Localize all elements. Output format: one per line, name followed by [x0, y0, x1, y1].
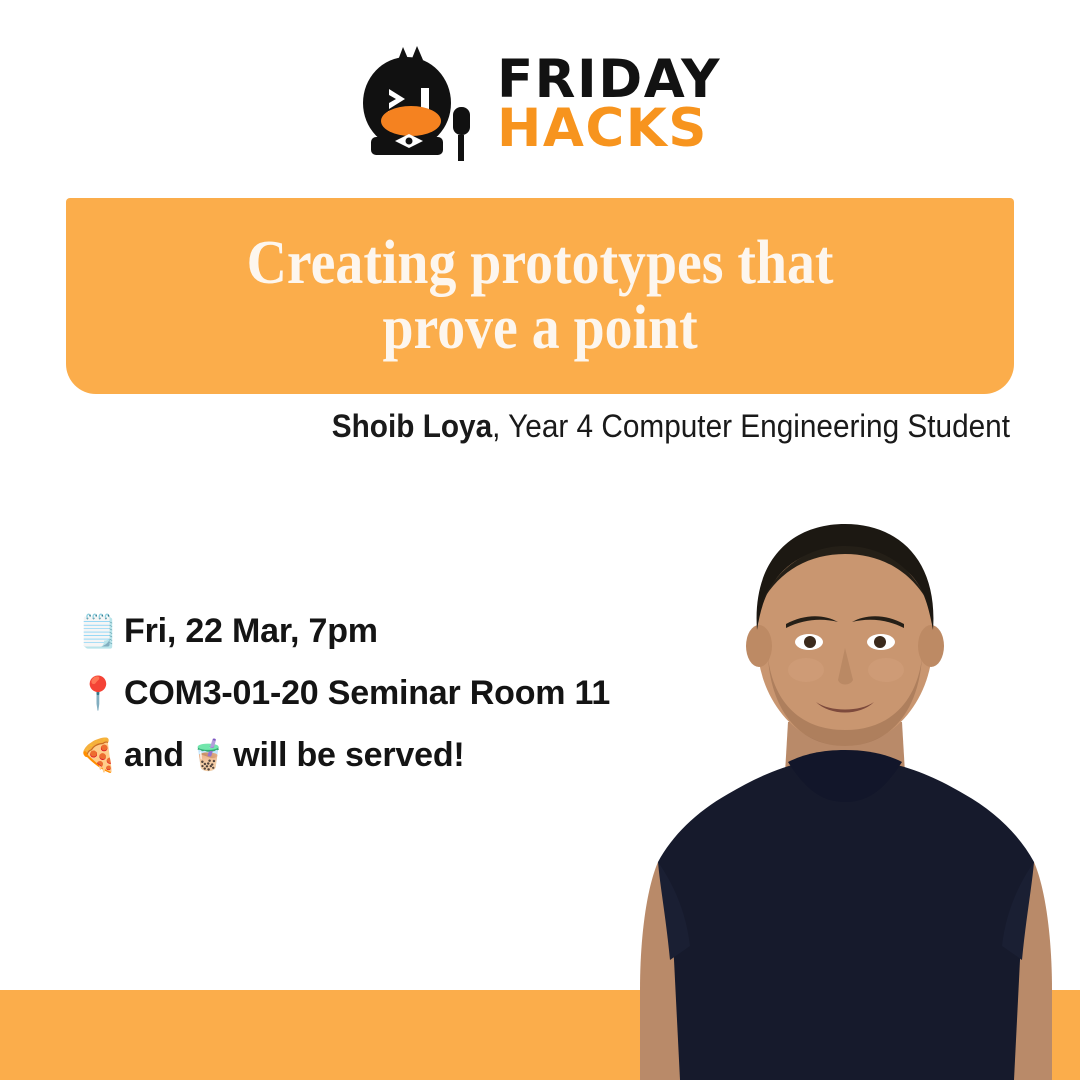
brand-wordmark: FRIDAY HACKS [497, 55, 721, 154]
spiral-notepad-icon: 🗒️ [78, 615, 124, 647]
refreshments-text-after: will be served! [233, 736, 464, 775]
title-banner: Creating prototypes that prove a point [66, 198, 1014, 394]
page-title: Creating prototypes that prove a point [220, 231, 861, 361]
bubble-tea-icon: 🧋 [184, 738, 233, 773]
detail-row-refreshments: 🍕 and 🧋 will be served! [78, 724, 610, 786]
speaker-role: , Year 4 Computer Engineering Student [492, 408, 1010, 444]
event-details-list: 🗒️ Fri, 22 Mar, 7pm 📍 COM3-01-20 Seminar… [78, 600, 610, 786]
refreshments-text-before: and [124, 736, 184, 775]
friday-hacks-duck-logo-icon [359, 45, 481, 163]
event-date-text: Fri, 22 Mar, 7pm [124, 612, 378, 651]
detail-row-date: 🗒️ Fri, 22 Mar, 7pm [78, 600, 610, 662]
brand-header: FRIDAY HACKS [0, 44, 1080, 164]
wordmark-hacks: HACKS [497, 104, 721, 153]
speaker-name: Shoib Loya [332, 408, 492, 444]
detail-row-location: 📍 COM3-01-20 Seminar Room 11 [78, 662, 610, 724]
speaker-portrait [610, 490, 1080, 1080]
event-location-text: COM3-01-20 Seminar Room 11 [124, 674, 610, 713]
pizza-icon: 🍕 [78, 739, 124, 771]
round-pushpin-icon: 📍 [78, 677, 124, 709]
wordmark-friday: FRIDAY [497, 55, 721, 104]
event-poster: FRIDAY HACKS Creating prototypes that pr… [0, 0, 1080, 1080]
speaker-byline: Shoib Loya, Year 4 Computer Engineering … [71, 408, 1010, 445]
